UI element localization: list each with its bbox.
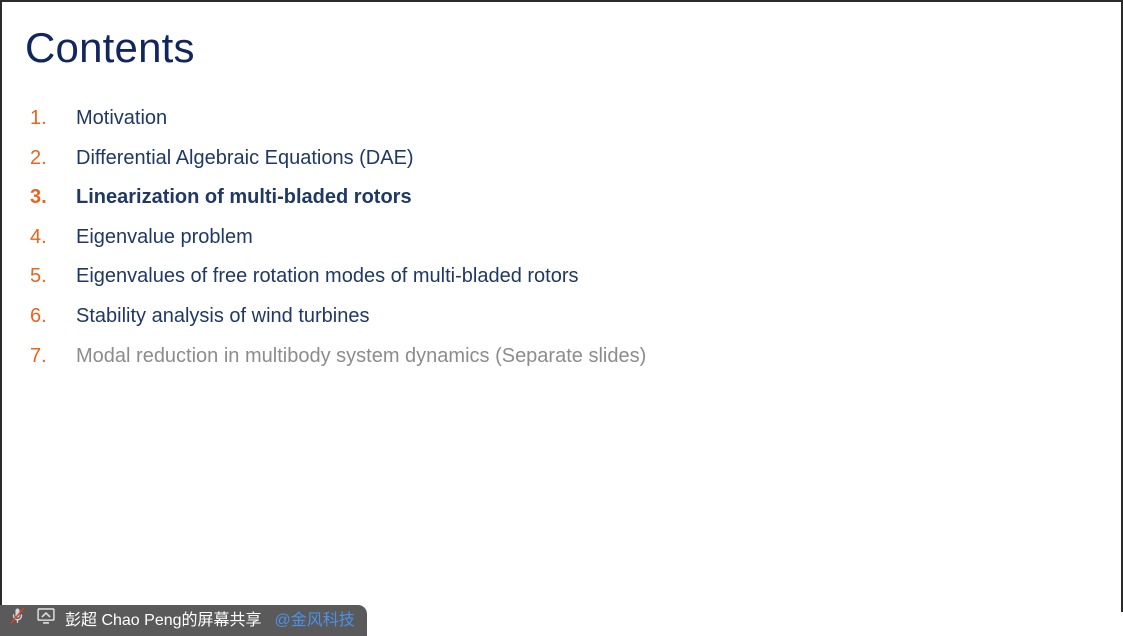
list-item-label: Linearization of multi-bladed rotors — [76, 183, 412, 211]
list-item[interactable]: 5. Eigenvalues of free rotation modes of… — [30, 262, 1070, 302]
list-item[interactable]: 6. Stability analysis of wind turbines — [30, 302, 1070, 342]
list-item-dimmed[interactable]: 7. Modal reduction in multibody system d… — [30, 342, 1070, 382]
list-item-number: 7. — [30, 342, 76, 370]
list-item[interactable]: 2. Differential Algebraic Equations (DAE… — [30, 144, 1070, 184]
page-title: Contents — [25, 22, 195, 74]
list-item-number: 6. — [30, 302, 76, 330]
list-item-label: Motivation — [76, 104, 167, 132]
list-item-number: 2. — [30, 144, 76, 172]
list-item[interactable]: 1. Motivation — [30, 104, 1070, 144]
slide-border-left — [0, 0, 2, 636]
share-bar-organization: @金风科技 — [275, 605, 355, 636]
list-item-number: 5. — [30, 262, 76, 290]
list-item-label: Eigenvalues of free rotation modes of mu… — [76, 262, 579, 290]
list-item-number: 1. — [30, 104, 76, 132]
list-item-active[interactable]: 3. Linearization of multi-bladed rotors — [30, 183, 1070, 223]
list-item-number: 4. — [30, 223, 76, 251]
presentation-slide: Contents 1. Motivation 2. Differential A… — [0, 0, 1123, 636]
list-item-label: Modal reduction in multibody system dyna… — [76, 342, 646, 370]
list-item-label: Differential Algebraic Equations (DAE) — [76, 144, 414, 172]
screen-share-status-bar[interactable]: 彭超 Chao Peng的屏幕共享 @金风科技 — [0, 605, 367, 636]
contents-list: 1. Motivation 2. Differential Algebraic … — [30, 104, 1070, 381]
slide-border-top — [0, 0, 1123, 2]
list-item-label: Eigenvalue problem — [76, 223, 253, 251]
share-bar-icon-group — [8, 605, 56, 636]
list-item-number: 3. — [30, 183, 76, 211]
microphone-muted-icon[interactable] — [8, 605, 27, 636]
list-item-label: Stability analysis of wind turbines — [76, 302, 369, 330]
screen-share-icon[interactable] — [36, 605, 56, 636]
list-item[interactable]: 4. Eigenvalue problem — [30, 223, 1070, 263]
share-bar-presenter-text: 彭超 Chao Peng的屏幕共享 — [65, 605, 262, 636]
